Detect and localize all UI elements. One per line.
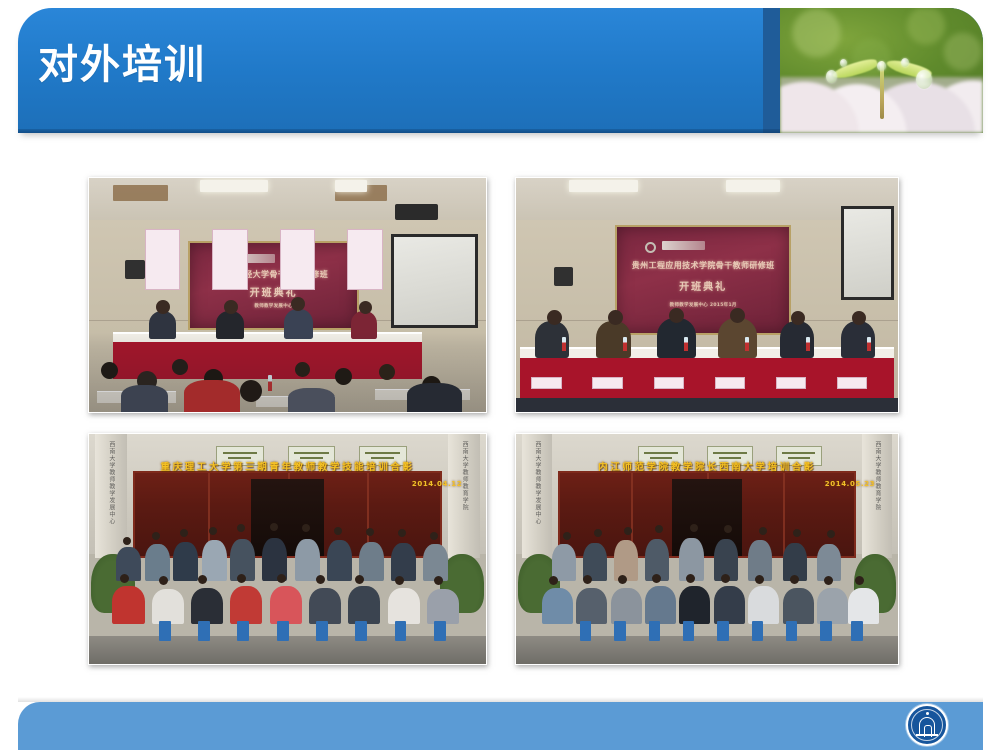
person-head <box>198 575 207 584</box>
water-bottle <box>867 337 871 351</box>
seated-person <box>191 588 223 624</box>
stool <box>198 621 210 641</box>
water-bottle <box>562 337 566 351</box>
person-head <box>624 527 632 535</box>
person-head <box>827 530 835 538</box>
neijiang-normal-dean-training-group-photo: 西南大学教师教学发展中心 西南大学教师教育学院 <box>515 433 899 665</box>
audience-body <box>407 383 463 412</box>
pillar-left-text: 西南大学教师教学发展中心 <box>532 441 542 525</box>
name-plate <box>347 229 383 290</box>
university-logo-icon <box>645 242 656 253</box>
person-head <box>180 529 188 537</box>
group-photo-scene: 西南大学教师教学发展中心 西南大学教师教育学院 <box>89 434 486 664</box>
seated-person <box>230 586 262 623</box>
person-head <box>583 575 592 584</box>
pillar-left-text: 西南大学教师教学发展中心 <box>106 441 116 525</box>
person-head <box>759 527 767 535</box>
person-head <box>686 574 695 583</box>
name-plate <box>715 377 746 389</box>
stool <box>277 621 289 641</box>
stool <box>580 621 591 641</box>
seated-person <box>848 588 879 624</box>
photo-caption-date: 2014.04.12 <box>412 480 462 488</box>
name-plate <box>212 229 248 290</box>
person-head <box>123 537 131 545</box>
stool <box>355 621 367 641</box>
dew-drop-icon <box>916 70 932 89</box>
person-head <box>724 525 732 533</box>
ceiling-light <box>569 180 638 192</box>
water-bottle <box>623 337 627 351</box>
wall-speaker <box>125 260 145 279</box>
person-head <box>690 524 698 532</box>
standing-person <box>295 539 320 581</box>
seated-person <box>348 586 380 623</box>
foreground-audience <box>516 398 898 412</box>
name-plate <box>280 229 316 290</box>
cqut-young-teacher-training-group-photo: 西南大学教师教学发展中心 西南大学教师教育学院 <box>88 433 487 665</box>
person-head <box>209 527 217 535</box>
person-head <box>302 524 310 532</box>
group-photo-scene: 西南大学教师教学发展中心 西南大学教师教育学院 <box>516 434 898 664</box>
person-head <box>755 575 764 584</box>
stool <box>752 621 763 641</box>
person-head <box>430 532 438 540</box>
person-head <box>159 576 168 585</box>
audience-head <box>101 362 118 379</box>
name-plate <box>592 377 623 389</box>
dew-drop-icon <box>901 58 909 67</box>
seated-person <box>748 586 779 623</box>
dew-drop-icon <box>840 59 847 67</box>
seated-person <box>611 588 642 624</box>
stool <box>649 621 660 641</box>
name-plate <box>837 377 868 389</box>
person-head <box>669 308 684 323</box>
screen-title-line2: 开班典礼 <box>679 278 727 293</box>
jiangxi-ufe-opening-ceremony-photo: 江西财经大学骨干教师研修班 开班典礼 教师教学发展中心 <box>88 177 487 413</box>
presentation-screen: 贵州工程应用技术学院骨干教师研修班 开班典礼 教师教学发展中心 2015年1月 <box>615 225 791 335</box>
person-head <box>549 576 558 585</box>
screen-subtitle: 教师教学发展中心 <box>254 304 292 310</box>
person-head <box>855 576 864 585</box>
university-wordmark <box>662 241 705 250</box>
photo-caption: 重庆理工大学第三期青年教师教学技能培训合影 <box>105 459 470 473</box>
side-projection-screen <box>391 234 478 328</box>
audience-body <box>121 385 169 412</box>
page-title: 对外培训 <box>38 42 206 88</box>
person-head <box>152 532 160 540</box>
seated-person <box>542 588 573 624</box>
standing-person <box>173 542 198 582</box>
seated-person <box>576 588 607 624</box>
person-head <box>237 574 246 583</box>
water-bottle <box>806 337 810 351</box>
photo-caption: 内江师范学院教学院长西南大学培训合影 <box>531 459 882 473</box>
dew-drop-icon <box>877 61 886 71</box>
person-head <box>594 529 602 537</box>
stool <box>316 621 328 641</box>
stool <box>851 621 862 641</box>
stool <box>717 621 728 641</box>
person-head <box>224 300 238 314</box>
crowd <box>535 517 879 641</box>
screen-title-line1: 贵州工程应用技术学院骨干教师研修班 <box>632 260 775 271</box>
audience-body <box>184 380 240 412</box>
seal-top-dot <box>926 712 929 715</box>
audience-head <box>379 364 395 380</box>
standing-person <box>391 543 416 582</box>
person-head <box>547 310 562 325</box>
seated-person <box>657 318 695 358</box>
pillar-right-text: 西南大学教师教育学院 <box>872 441 882 511</box>
ceiling-light <box>335 180 367 192</box>
person-head <box>721 574 730 583</box>
seated-person <box>718 318 756 358</box>
conference-room-scene: 贵州工程应用技术学院骨干教师研修班 开班典礼 教师教学发展中心 2015年1月 <box>516 178 898 412</box>
stool <box>395 621 407 641</box>
stool <box>786 621 797 641</box>
person-head <box>652 574 661 583</box>
conference-room-scene: 江西财经大学骨干教师研修班 开班典礼 教师教学发展中心 <box>89 178 486 412</box>
name-plate <box>531 377 562 389</box>
seated-person <box>679 586 710 623</box>
person-head <box>316 575 325 584</box>
seated-person <box>645 586 676 623</box>
ceiling-panel <box>113 185 169 201</box>
person-head <box>359 301 372 314</box>
crowd <box>109 517 466 641</box>
audience-body <box>288 388 336 412</box>
person-head <box>237 524 245 532</box>
seated-person <box>152 589 184 624</box>
person-head <box>395 576 404 585</box>
person-head <box>655 525 663 533</box>
person-head <box>355 575 364 584</box>
person-head <box>730 308 745 323</box>
person-head <box>563 532 571 540</box>
seated-person <box>388 588 420 624</box>
audience-head <box>335 368 352 385</box>
person-head <box>277 574 286 583</box>
ceiling-light <box>726 180 779 192</box>
seated-person <box>817 588 848 624</box>
standing-person <box>614 540 638 581</box>
audience-head <box>240 380 262 402</box>
name-plate <box>776 377 807 389</box>
ceiling-light <box>200 180 267 192</box>
sprout-with-dew-photo <box>780 8 983 133</box>
dew-drop-icon <box>826 70 837 83</box>
water-bottle <box>745 337 749 351</box>
person-head <box>270 523 278 531</box>
stool <box>237 621 249 641</box>
person-head <box>793 529 801 537</box>
southwest-university-seal <box>906 704 948 746</box>
side-projection-screen <box>841 206 894 300</box>
audience-area <box>89 332 486 412</box>
footer-bar <box>18 702 983 750</box>
stool <box>820 621 831 641</box>
seal-base <box>916 734 938 736</box>
name-plate <box>145 229 181 290</box>
stool <box>159 621 171 641</box>
stool <box>434 621 446 641</box>
person-head <box>334 527 342 535</box>
person-head <box>398 529 406 537</box>
stool <box>614 621 625 641</box>
seated-person <box>427 589 459 624</box>
person-head <box>618 575 627 584</box>
seated-person <box>783 588 814 624</box>
name-plate <box>654 377 685 389</box>
person-head <box>824 576 833 585</box>
pillar-right-text: 西南大学教师教育学院 <box>459 441 469 511</box>
person-head <box>790 575 799 584</box>
photo-caption-date: 2014.05.23 <box>825 480 875 488</box>
panel-table <box>520 347 894 398</box>
seated-person <box>270 586 302 623</box>
stool <box>683 621 694 641</box>
seated-person <box>309 588 341 624</box>
audience-head <box>295 362 310 377</box>
water-bottle <box>684 337 688 351</box>
person-head <box>366 528 374 536</box>
person-head <box>434 576 443 585</box>
standing-person <box>327 540 352 581</box>
seated-person <box>112 586 144 623</box>
wall-speaker <box>554 267 573 286</box>
seated-person <box>714 586 745 623</box>
guizhou-uet-opening-ceremony-photo: 贵州工程应用技术学院骨干教师研修班 开班典礼 教师教学发展中心 2015年1月 <box>515 177 899 413</box>
audience-head <box>172 359 188 375</box>
person-head <box>120 574 129 583</box>
projector <box>395 204 439 220</box>
